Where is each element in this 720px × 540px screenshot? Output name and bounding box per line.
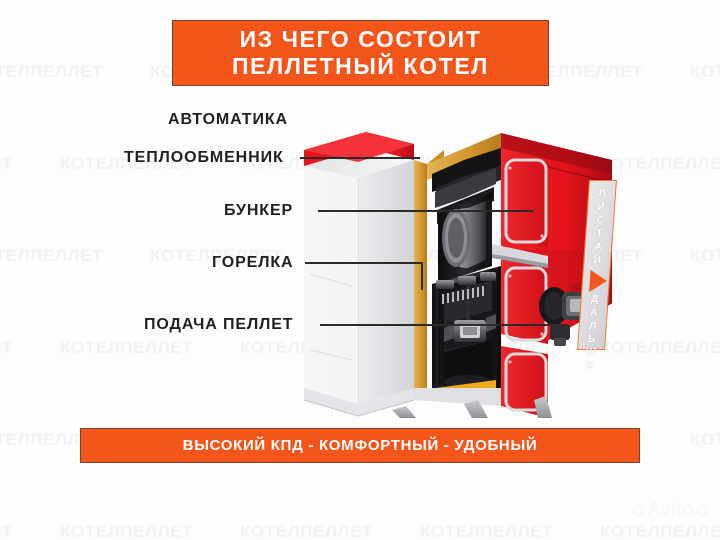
leader-line-burner-vertical: [421, 262, 423, 290]
tagline-banner: ВЫСОКИЙ КПД - КОМФОРТНЫЙ - УДОБНЫЙ: [80, 428, 640, 463]
callout-automation-label: АВТОМАТИКА: [168, 111, 288, 129]
leader-line-heat-exchanger: [300, 157, 420, 159]
callout-burner-label: ГОРЕЛКА: [212, 254, 294, 272]
callout-pellet-feed-label: ПОДАЧА ПЕЛЛЕТ: [144, 316, 293, 334]
watermark-text: КОТЕЛПЕЛЛЕТ: [60, 522, 193, 540]
watermark-text: КОТЕЛПЕЛЛЕТ: [0, 246, 103, 266]
callout-hopper: БУНКЕР: [224, 201, 293, 221]
watermark-text: КОТЕЛПЕЛЛЕТ: [690, 246, 720, 266]
watermark-text: КОТЕЛПЕЛЛЕТ: [0, 338, 13, 358]
callout-automation: АВТОМАТИКА: [168, 110, 288, 130]
infographic-canvas: КОТЕЛПЕЛЛЕТКОТЕЛПЕЛЛЕТКОТЕЛПЕЛЛЕТКОТЕЛПЕ…: [0, 0, 720, 540]
leader-line-pellet-feed: [320, 324, 550, 326]
leader-line-burner: [305, 262, 423, 264]
tagline-text: ВЫСОКИЙ КПД - КОМФОРТНЫЙ - УДОБНЫЙ: [183, 437, 538, 454]
callout-heat-exchanger: ТЕПЛООБМЕННИК: [124, 148, 284, 168]
avito-dot-right-icon: [697, 505, 708, 516]
avito-watermark-text: Avito: [647, 499, 694, 522]
title-banner: ИЗ ЧЕГО СОСТОИТ ПЕЛЛЕТНЫЙ КОТЕЛ: [172, 20, 549, 86]
watermark-text: КОТЕЛПЕЛЛЕТ: [0, 522, 13, 540]
callout-hopper-label: БУНКЕР: [224, 202, 293, 220]
watermark-text: КОТЕЛПЕЛЛЕТ: [420, 522, 553, 540]
title-line-2: ПЕЛЛЕТНЫЙ КОТЕЛ: [232, 53, 489, 80]
watermark-text: КОТЕЛПЕЛЛЕТ: [60, 338, 193, 358]
leader-line-hopper: [318, 210, 533, 212]
callout-burner: ГОРЕЛКА: [212, 253, 294, 273]
watermark-text: КОТЕЛПЕЛЛЕТ: [600, 522, 720, 540]
watermark-text: КОТЕЛПЕЛЛЕТ: [690, 62, 720, 82]
watermark-text: КОТЕЛПЕЛЛЕТ: [690, 430, 720, 450]
triangle-right-icon: [589, 270, 608, 292]
watermark-text: КОТЕЛПЕЛЛЕТ: [240, 522, 373, 540]
avito-dot-left-icon: [633, 505, 644, 516]
callout-pellet-feed: ПОДАЧА ПЕЛЛЕТ: [144, 315, 293, 335]
avito-watermark: Avito: [633, 499, 708, 522]
watermark-text: КОТЕЛПЕЛЛЕТ: [0, 62, 103, 82]
title-line-1: ИЗ ЧЕГО СОСТОИТ: [240, 26, 482, 53]
pellet-boiler-illustration: [296, 88, 626, 418]
callout-heat-exchanger-label: ТЕПЛООБМЕННИК: [124, 149, 284, 167]
swipe-word-top: ЛИСТАЙ: [591, 188, 608, 268]
watermark-text: КОТЕЛПЕЛЛЕТ: [0, 154, 13, 174]
